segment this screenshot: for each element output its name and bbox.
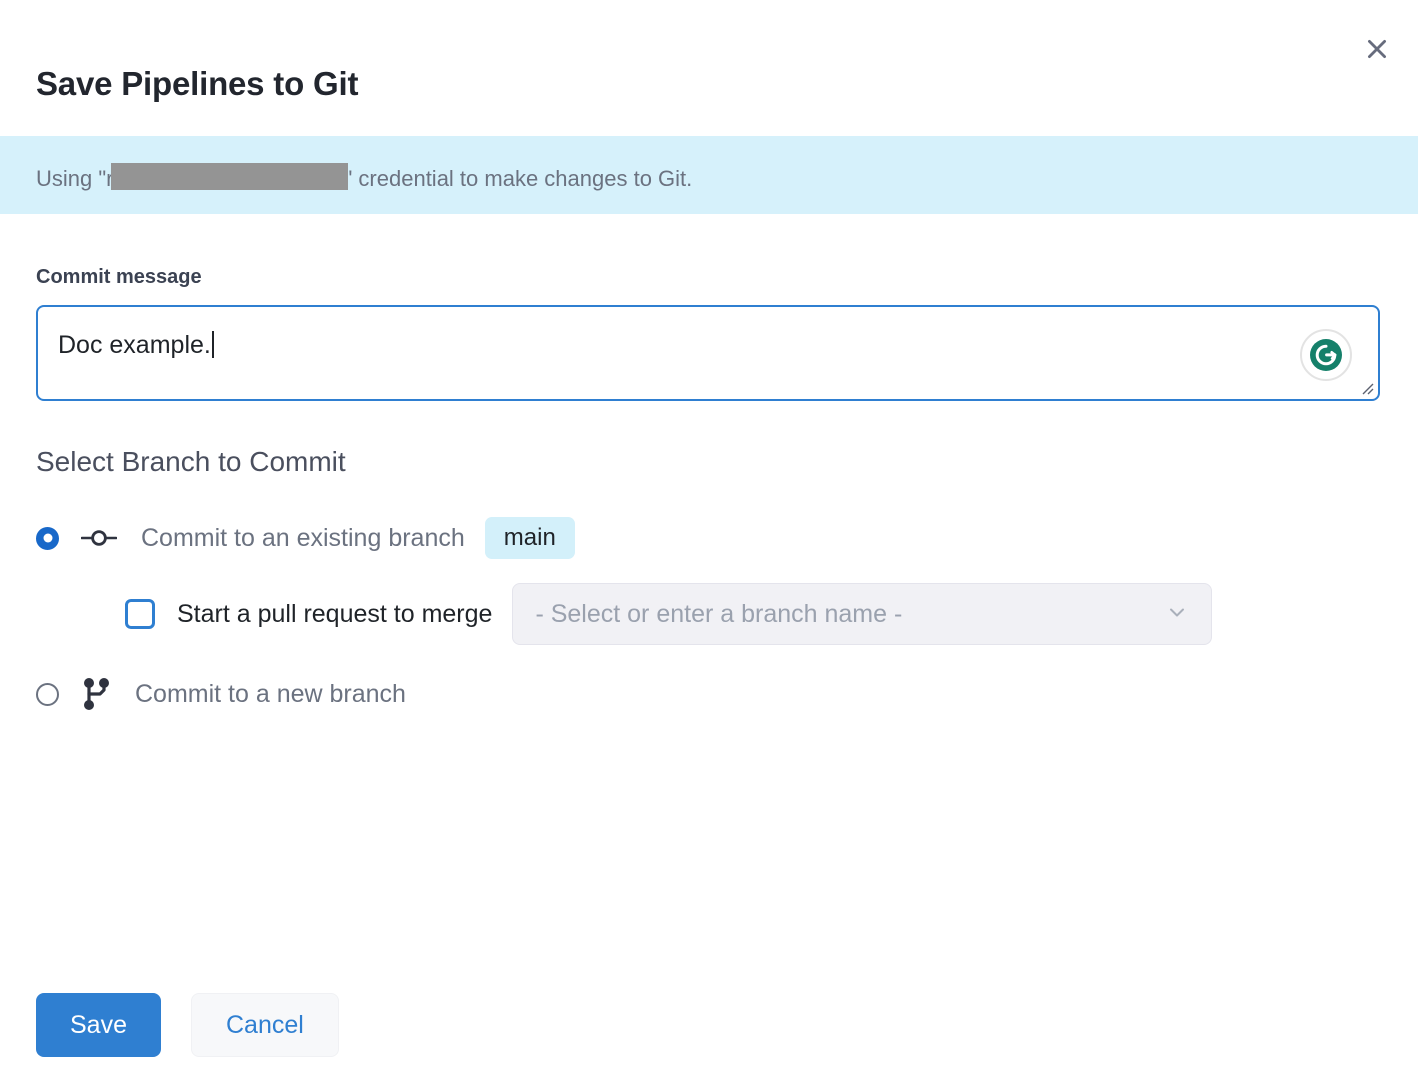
git-branch-icon [81,676,111,712]
commit-message-label: Commit message [36,266,202,289]
credential-info-banner: Using "r" credential to make changes to … [0,136,1418,214]
banner-text-before: Using "r [36,166,114,192]
pull-request-row: Start a pull request to merge - Select o… [125,583,1212,645]
close-icon [1364,36,1390,62]
save-button[interactable]: Save [36,993,161,1057]
textarea-resize-handle[interactable] [1358,379,1374,395]
merge-branch-placeholder: - Select or enter a branch name - [535,600,902,629]
branch-section-title: Select Branch to Commit [36,446,346,478]
merge-branch-select[interactable]: - Select or enter a branch name - [512,583,1212,645]
pull-request-checkbox[interactable] [125,599,155,629]
option-label-new-branch: Commit to a new branch [135,680,406,709]
pull-request-label: Start a pull request to merge [177,600,492,629]
option-label-existing-branch: Commit to an existing branch [141,524,465,553]
option-commit-existing-branch[interactable]: Commit to an existing branch main [36,512,575,564]
text-caret [212,331,214,358]
radio-commit-existing-branch[interactable] [36,527,59,550]
banner-text-after: " credential to make changes to Git. [345,166,693,192]
git-commit-icon [81,526,117,550]
credential-info-text: Using "r" credential to make changes to … [36,159,692,192]
commit-message-input[interactable]: Doc example. [36,305,1380,401]
redacted-credential-name [111,163,348,190]
chevron-down-icon [1165,600,1189,629]
grammarly-icon[interactable] [1300,329,1352,381]
dialog-footer: Save Cancel [36,993,339,1057]
cancel-button[interactable]: Cancel [191,993,339,1057]
page-title: Save Pipelines to Git [36,64,358,104]
close-button[interactable] [1354,26,1400,72]
commit-message-value: Doc example. [58,331,214,360]
radio-commit-new-branch[interactable] [36,683,59,706]
current-branch-badge[interactable]: main [485,517,575,559]
option-commit-new-branch[interactable]: Commit to a new branch [36,668,406,720]
